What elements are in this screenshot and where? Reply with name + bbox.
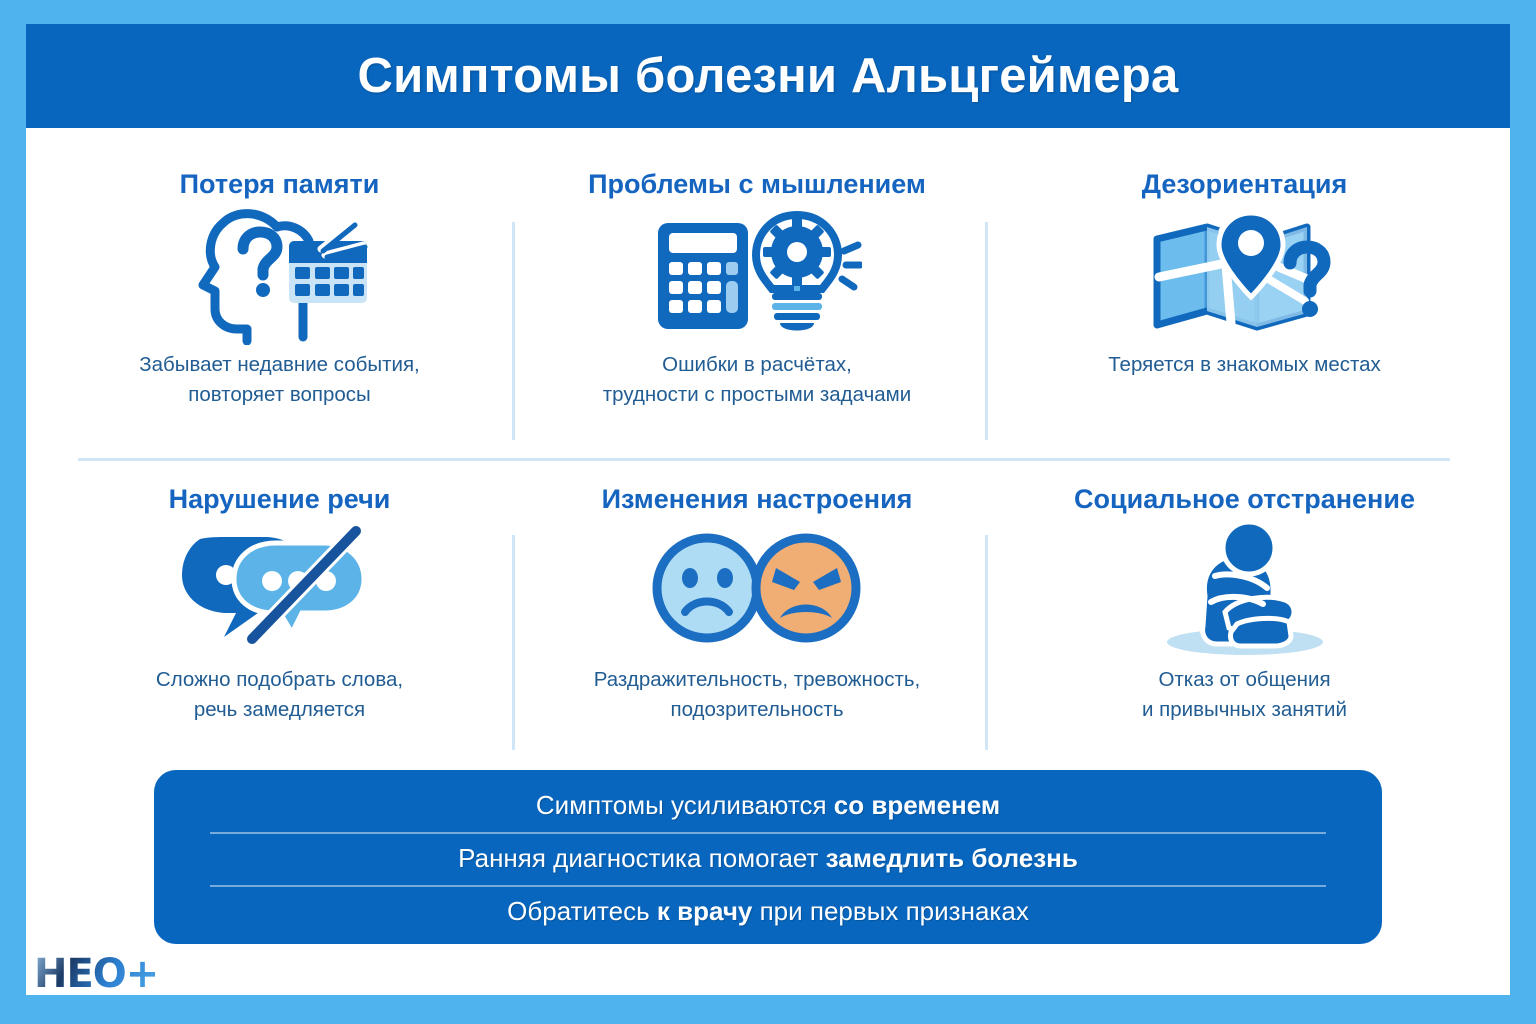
symptom-description-line: трудности с простыми задачами bbox=[522, 380, 992, 411]
symptom-description: Ошибки в расчётах, трудности с простыми … bbox=[522, 350, 992, 412]
vertical-divider-left-bottom bbox=[512, 535, 515, 750]
symptom-panel-mood-changes[interactable]: Изменения настроения Раздражительность, … bbox=[522, 485, 992, 726]
speech-bubbles-crossed-icon bbox=[52, 515, 507, 665]
symptoms-grid: Потеря памяти bbox=[52, 150, 1482, 750]
callout-text: Ранняя диагностика помогает bbox=[458, 843, 826, 873]
vertical-divider-left-top bbox=[512, 222, 515, 440]
symptom-description: Отказ от общения и привычных занятий bbox=[1007, 665, 1482, 727]
calculator-lightbulb-gear-icon bbox=[522, 200, 992, 350]
horizontal-divider bbox=[78, 458, 1450, 461]
symptom-title: Проблемы с мышлением bbox=[522, 170, 992, 200]
symptom-title: Изменения настроения bbox=[522, 485, 992, 515]
symptom-description-line: Теряется в знакомых местах bbox=[1007, 350, 1482, 381]
callout-text: Обратитесь bbox=[507, 896, 657, 926]
symptom-description: Раздражительность, тревожность, подозрит… bbox=[522, 665, 992, 727]
map-pin-question-icon bbox=[1007, 200, 1482, 350]
symptom-description: Сложно подобрать слова, речь замедляется bbox=[52, 665, 507, 727]
symptom-description-line: Забывает недавние события, bbox=[52, 350, 507, 381]
head-question-calendar-icon bbox=[52, 200, 507, 350]
symptom-title: Социальное отстранение bbox=[1007, 485, 1482, 515]
callout-line-1: Симптомы усиливаются со временем bbox=[210, 781, 1326, 832]
symptom-panel-memory-loss[interactable]: Потеря памяти bbox=[52, 170, 507, 411]
header-bar: Симптомы болезни Альцгеймера bbox=[26, 24, 1510, 128]
key-messages-callout: Симптомы усиливаются со временем Ранняя … bbox=[154, 770, 1382, 944]
symptom-description-line: Ошибки в расчётах, bbox=[522, 350, 992, 381]
symptom-title: Потеря памяти bbox=[52, 170, 507, 200]
symptom-description-line: подозрительность bbox=[522, 695, 992, 726]
brand-logo: НЕО+ bbox=[26, 946, 246, 1002]
symptom-panel-social-withdrawal[interactable]: Социальное отстранение bbox=[1007, 485, 1482, 726]
callout-text-bold: к врачу bbox=[657, 896, 752, 926]
poster-frame: Симптомы болезни Альцгеймера Потеря памя… bbox=[0, 0, 1536, 1024]
sad-angry-faces-icon bbox=[522, 515, 992, 665]
symptom-panel-disorientation[interactable]: Дезориентация bbox=[1007, 170, 1482, 380]
callout-text: Симптомы усиливаются bbox=[536, 790, 834, 820]
symptom-title: Нарушение речи bbox=[52, 485, 507, 515]
page-title: Симптомы болезни Альцгеймера bbox=[358, 48, 1179, 104]
symptom-description-line: Сложно подобрать слова, bbox=[52, 665, 507, 696]
symptom-panel-thinking-problems[interactable]: Проблемы с мышлением bbox=[522, 170, 992, 411]
symptom-description-line: повторяет вопросы bbox=[52, 380, 507, 411]
symptom-description: Теряется в знакомых местах bbox=[1007, 350, 1482, 381]
callout-line-3: Обратитесь к врачу при первых признаках bbox=[210, 885, 1326, 938]
callout-text-bold: замедлить болезнь bbox=[826, 843, 1078, 873]
symptom-description-line: и привычных занятий bbox=[1007, 695, 1482, 726]
person-sitting-alone-icon bbox=[1007, 515, 1482, 665]
callout-text: при первых признаках bbox=[752, 896, 1028, 926]
symptom-description-line: Раздражительность, тревожность, bbox=[522, 665, 992, 696]
symptom-description: Забывает недавние события, повторяет воп… bbox=[52, 350, 507, 412]
callout-text-bold: со временем bbox=[834, 790, 1000, 820]
symptom-description-line: Отказ от общения bbox=[1007, 665, 1482, 696]
symptom-description-line: речь замедляется bbox=[52, 695, 507, 726]
symptom-title: Дезориентация bbox=[1007, 170, 1482, 200]
logo-text: НЕО+ bbox=[34, 951, 158, 997]
callout-line-2: Ранняя диагностика помогает замедлить бо… bbox=[210, 832, 1326, 885]
symptom-panel-speech-disorder[interactable]: Нарушение речи bbox=[52, 485, 507, 726]
